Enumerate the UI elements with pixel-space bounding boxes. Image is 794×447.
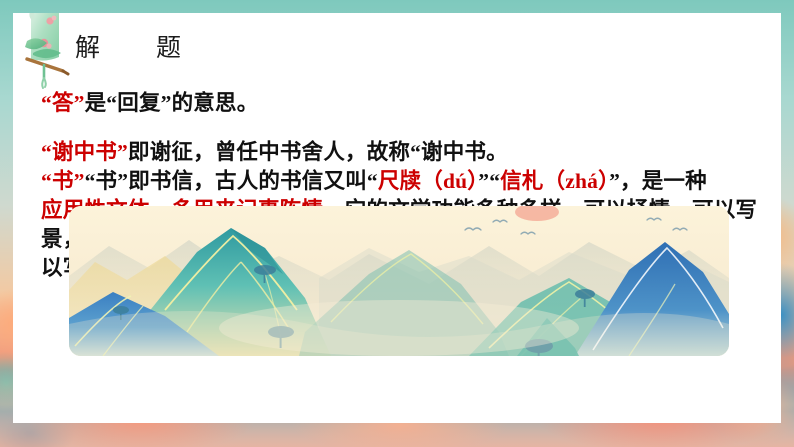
- line2-seg1: “书”即书信，古人的书信又叫“: [85, 169, 378, 193]
- content-card: 解 题 “答”是“回复”的意思。 “谢中书”即谢征，曾任中书舍人，故称“谢中书。…: [13, 13, 781, 423]
- hanging-scroll-icon: [17, 13, 79, 97]
- line2-seg3: ”，是一种: [609, 169, 707, 193]
- term-xinzha: 信札（zhá）: [500, 169, 609, 193]
- slide-root: 解 题 “答”是“回复”的意思。 “谢中书”即谢征，曾任中书舍人，故称“谢中书。…: [0, 0, 794, 447]
- line2-seg2: ”“: [478, 169, 500, 193]
- term-shu: “书”: [41, 169, 85, 193]
- slide-header: 解 题: [13, 13, 781, 89]
- term-chidu: 尺牍（dú）: [378, 169, 478, 193]
- line1-rest: 即谢征，曾任中书舍人，故称“谢中书。: [128, 140, 508, 164]
- term-xiezhongshu: “谢中书”: [41, 140, 128, 164]
- page-title: 解 题: [75, 28, 183, 64]
- paragraph-one: “答”是“回复”的意思。: [41, 89, 767, 118]
- paragraph-one-rest: 是“回复”的意思。: [85, 91, 259, 115]
- term-da: “答”: [41, 91, 85, 115]
- landscape-illustration: [69, 206, 729, 356]
